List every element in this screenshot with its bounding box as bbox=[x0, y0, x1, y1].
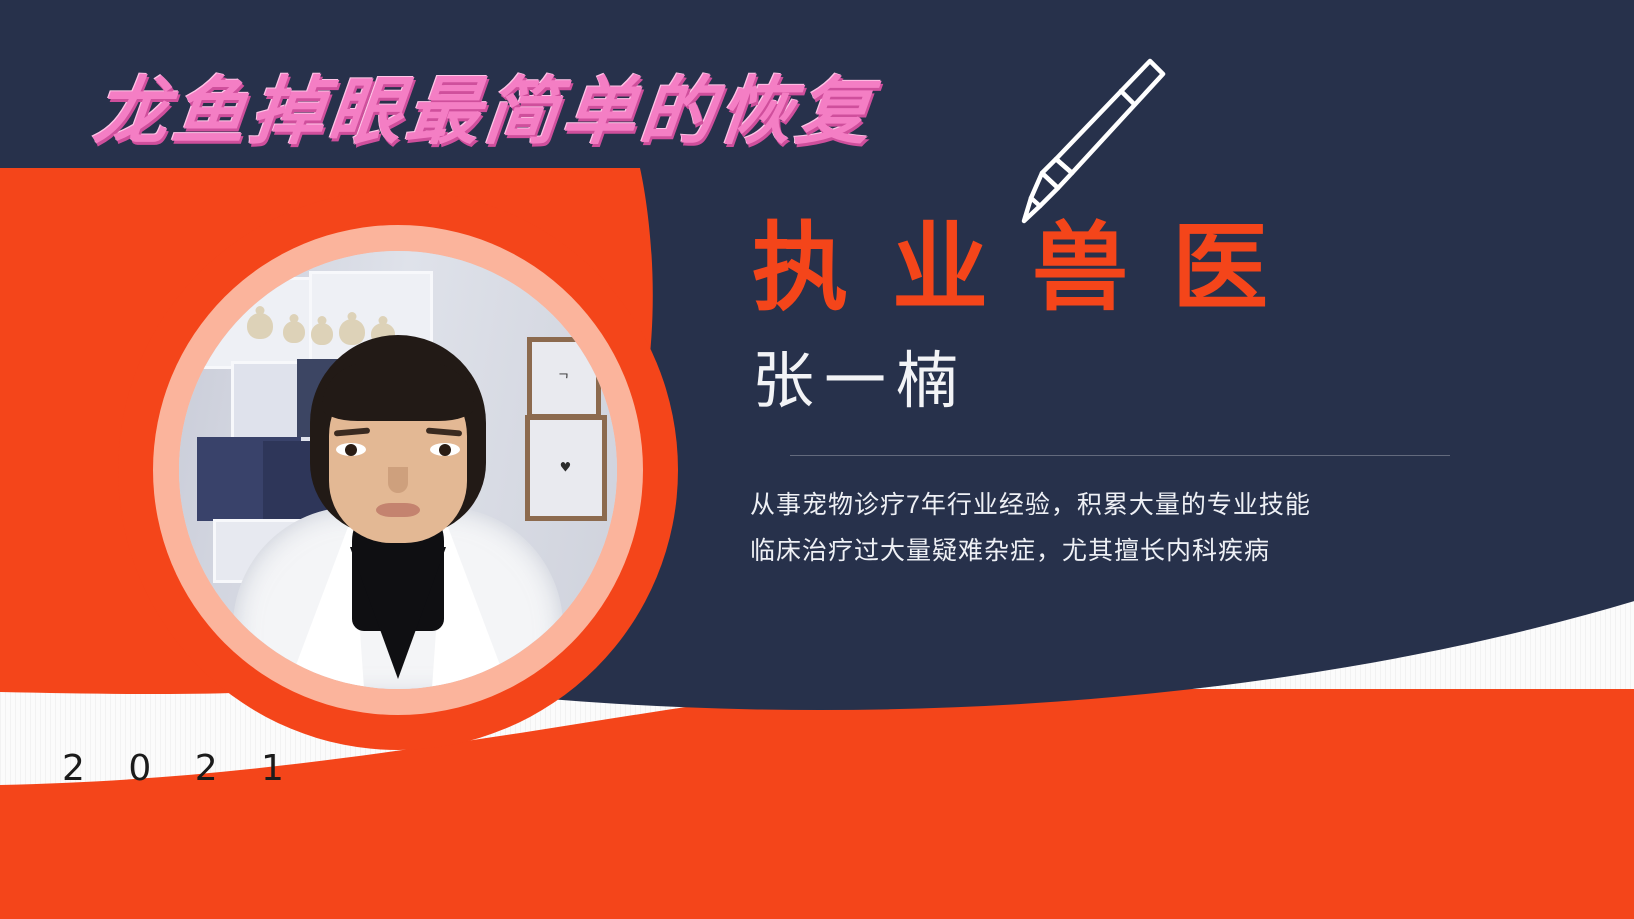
avatar: ᄀ ♥ bbox=[118, 190, 678, 750]
year-label: 2 0 2 1 bbox=[62, 748, 300, 789]
page-title: 龙鱼掉眼最简单的恢复 bbox=[89, 52, 880, 159]
photo-frame-text-1: ᄀ bbox=[558, 369, 571, 388]
description-line-1: 从事宠物诊疗7年行业经验，积累大量的专业技能 bbox=[750, 482, 1311, 528]
avatar-ring: ᄀ ♥ bbox=[153, 225, 643, 715]
description-block: 从事宠物诊疗7年行业经验，积累大量的专业技能 临床治疗过大量疑难杂症，尤其擅长内… bbox=[750, 482, 1311, 574]
avatar-photo: ᄀ ♥ bbox=[179, 251, 617, 689]
description-line-2: 临床治疗过大量疑难杂症，尤其擅长内科疾病 bbox=[750, 528, 1311, 574]
slide-canvas: ᄀ ♥ 龙鱼掉眼最简单的恢复 bbox=[0, 0, 1634, 919]
divider bbox=[790, 455, 1450, 456]
photo-frame-text-2: ♥ bbox=[560, 461, 573, 476]
person-name: 张一楠 bbox=[752, 330, 968, 420]
headline: 执业兽医 bbox=[752, 190, 1312, 329]
